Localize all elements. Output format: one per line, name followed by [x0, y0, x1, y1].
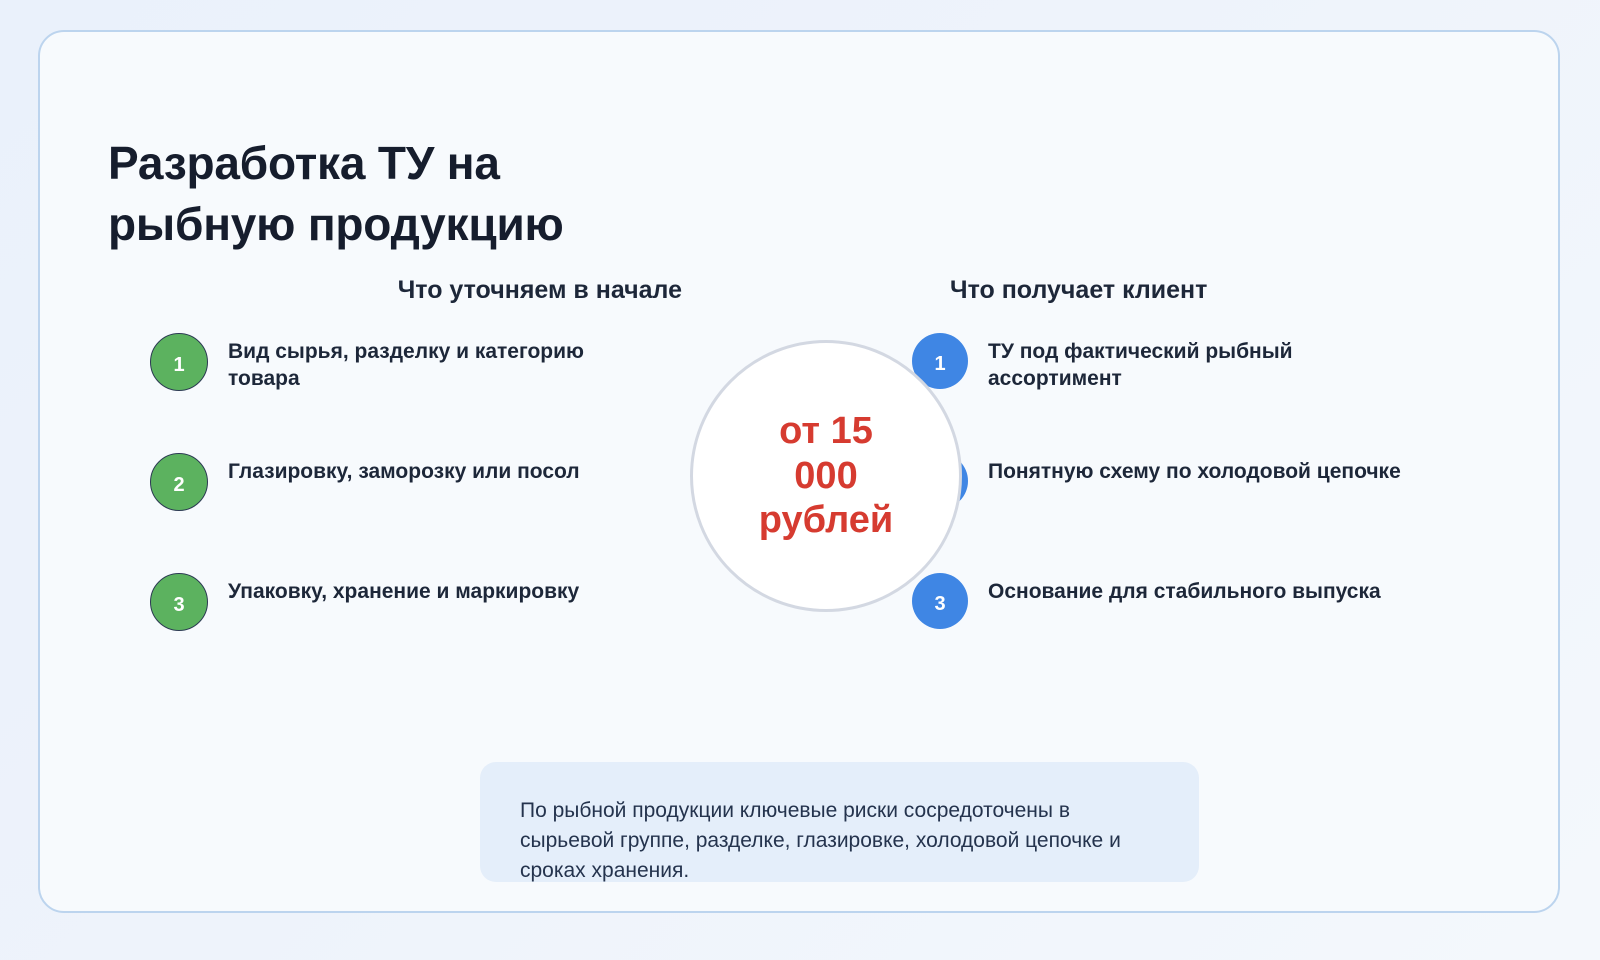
list-item: 2 Понятную схему по холодовой цепочке [912, 449, 1412, 547]
list-item-label: ТУ под фактический рыбный ассортимент [988, 329, 1408, 393]
step-badge-2: 2 [150, 453, 208, 511]
right-column-items: 1 ТУ под фактический рыбный ассортимент … [912, 329, 1412, 667]
list-item: 3 Основание для стабильного выпуска [912, 569, 1412, 667]
benefit-number: 1 [934, 353, 945, 376]
list-item: 3 Упаковку, хранение и маркировку [150, 569, 682, 667]
left-column-header: Что уточняем в начале [150, 275, 682, 305]
list-item: 1 Вид сырья, разделку и категорию товара [150, 329, 682, 427]
step-badge-1: 1 [150, 333, 208, 391]
step-badge-3: 3 [150, 573, 208, 631]
price-label: от 15 000 рублей [744, 409, 909, 543]
page-title: Разработка ТУ на рыбную продукцию [108, 133, 868, 254]
list-item-label: Глазировку, заморозку или посол [228, 449, 580, 486]
note-text: По рыбной продукции ключевые риски сосре… [520, 796, 1159, 885]
infographic-page: Разработка ТУ на рыбную продукцию Что ут… [0, 0, 1600, 960]
price-circle: от 15 000 рублей [690, 340, 962, 612]
step-number: 1 [173, 354, 184, 377]
right-column-header: Что получает клиент [912, 275, 1412, 305]
list-item: 2 Глазировку, заморозку или посол [150, 449, 682, 547]
note-box: По рыбной продукции ключевые риски сосре… [480, 762, 1199, 882]
list-item: 1 ТУ под фактический рыбный ассортимент [912, 329, 1412, 427]
list-item-label: Понятную схему по холодовой цепочке [988, 449, 1401, 486]
content-card: Разработка ТУ на рыбную продукцию Что ут… [38, 30, 1560, 913]
step-number: 2 [173, 474, 184, 497]
left-column-items: 1 Вид сырья, разделку и категорию товара… [150, 329, 682, 667]
list-item-label: Основание для стабильного выпуска [988, 569, 1381, 606]
right-column: Что получает клиент 1 ТУ под фактический… [912, 275, 1412, 667]
benefit-badge-3: 3 [912, 573, 968, 629]
list-item-label: Упаковку, хранение и маркировку [228, 569, 579, 606]
left-column: Что уточняем в начале 1 Вид сырья, разде… [150, 275, 682, 667]
benefit-number: 3 [934, 593, 945, 616]
list-item-label: Вид сырья, разделку и категорию товара [228, 329, 628, 393]
step-number: 3 [173, 594, 184, 617]
